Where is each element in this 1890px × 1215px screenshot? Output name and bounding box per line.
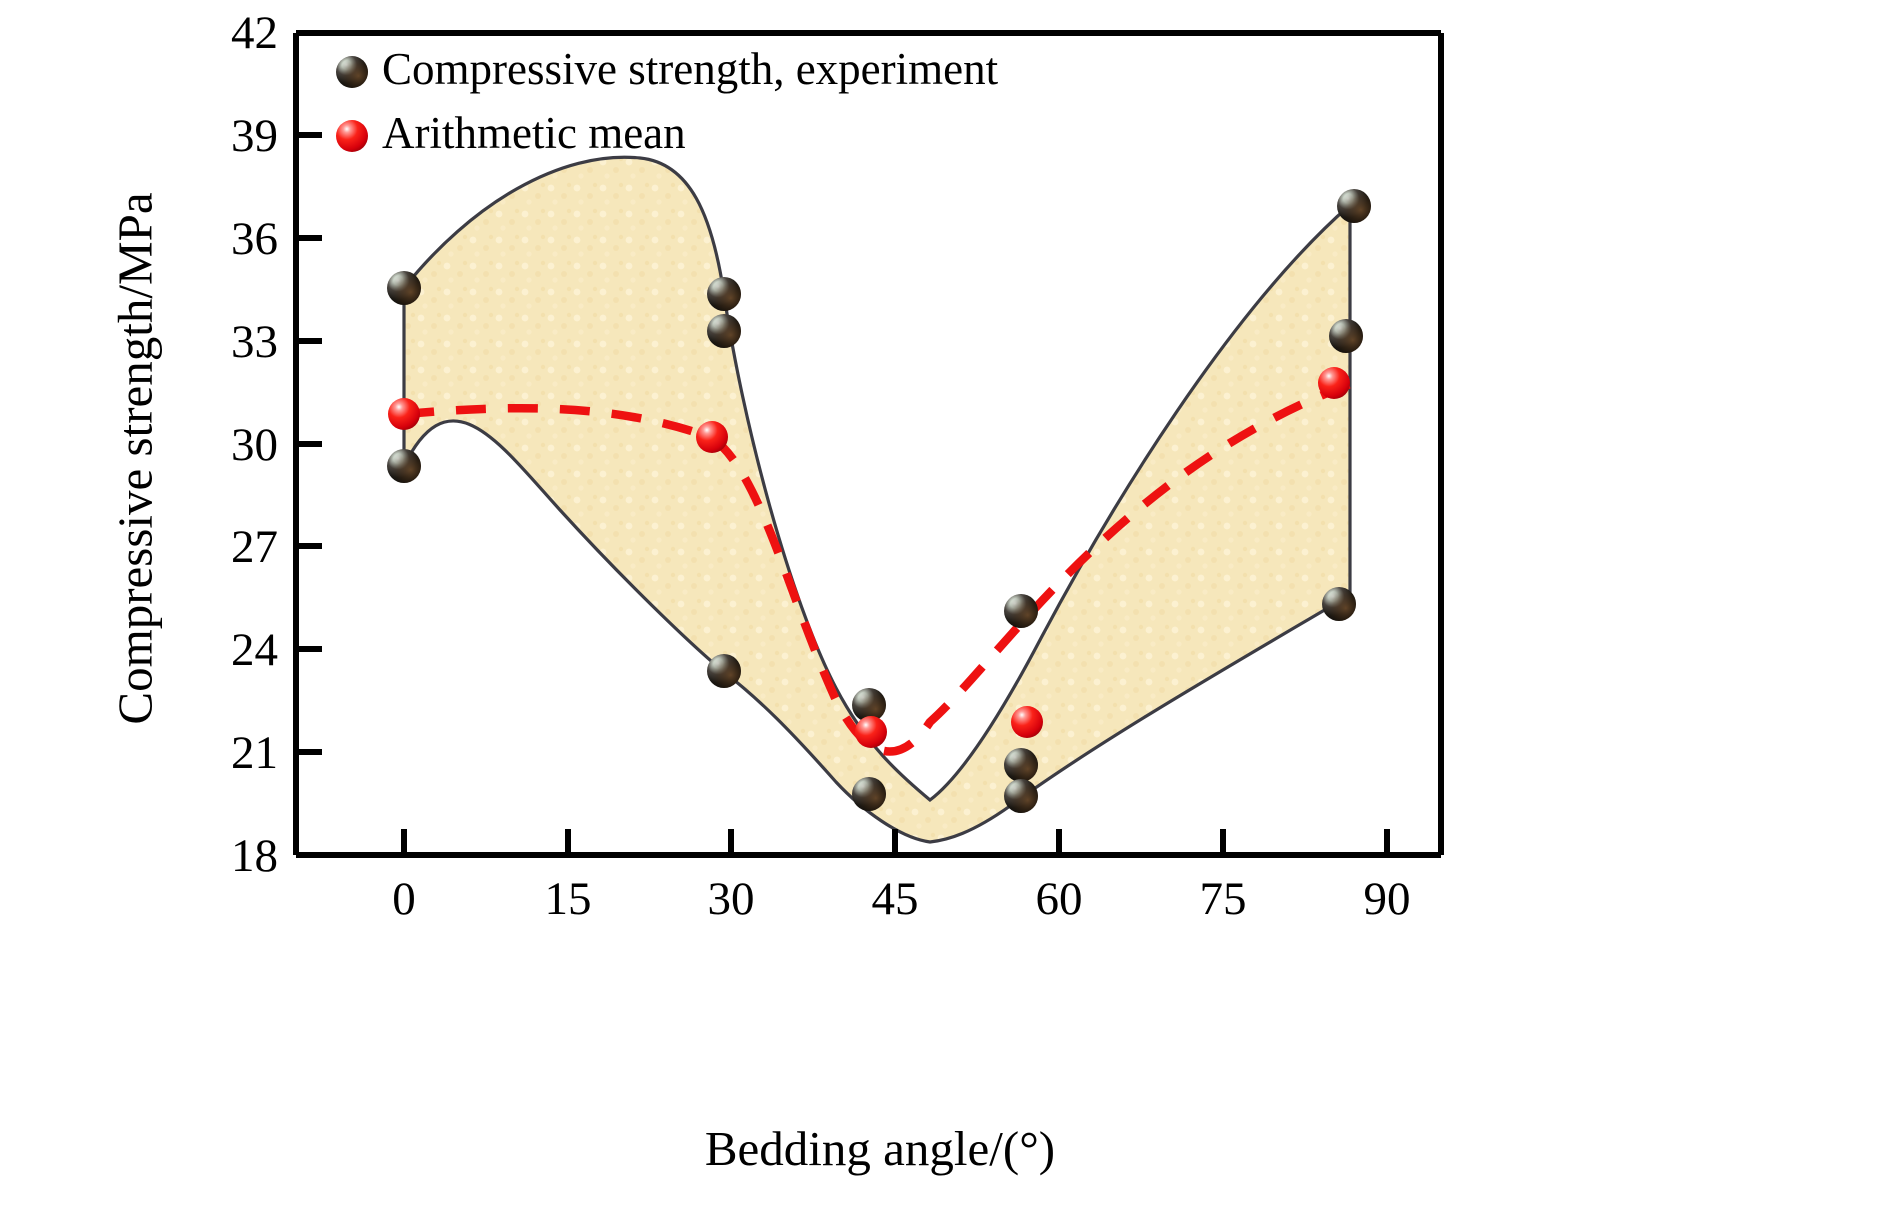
data-point-marker xyxy=(707,277,741,311)
y-tick-label-21: 21 xyxy=(188,726,278,780)
y-tick-label-36: 36 xyxy=(188,212,278,266)
data-point-marker xyxy=(387,271,421,305)
y-tick-label-33: 33 xyxy=(188,315,278,369)
y-tick-label-30: 30 xyxy=(188,418,278,472)
x-tick-label-75: 75 xyxy=(1168,872,1278,926)
data-point-marker xyxy=(387,449,421,483)
data-point-marker xyxy=(1337,189,1371,223)
x-tick-label-90: 90 xyxy=(1332,872,1442,926)
x-axis-title: Bedding angle/(°) xyxy=(500,1120,1260,1177)
legend-markers xyxy=(336,56,368,152)
x-tick-label-15: 15 xyxy=(513,872,623,926)
y-tick-label-18: 18 xyxy=(188,829,278,883)
x-tick-label-45: 45 xyxy=(840,872,950,926)
y-tick-label-39: 39 xyxy=(188,109,278,163)
data-point-marker xyxy=(1004,594,1038,628)
x-tick-label-0: 0 xyxy=(349,872,459,926)
legend-label-arithmetic-mean: Arithmetic mean xyxy=(382,107,686,159)
data-point-marker xyxy=(707,654,741,688)
data-point-marker xyxy=(707,314,741,348)
legend-label-experiment: Compressive strength, experiment xyxy=(382,43,998,95)
chart-figure: Compressive strength, experiment Arithme… xyxy=(0,0,1890,1215)
x-tick-label-30: 30 xyxy=(676,872,786,926)
y-tick-label-42: 42 xyxy=(188,6,278,60)
mean-point-marker xyxy=(1318,367,1350,399)
mean-point-marker xyxy=(1011,706,1043,738)
chart-canvas xyxy=(0,0,1890,1215)
x-tick-label-60: 60 xyxy=(1004,872,1114,926)
y-tick-label-27: 27 xyxy=(188,520,278,574)
mean-point-marker xyxy=(855,716,887,748)
mean-point-marker xyxy=(696,421,728,453)
y-tick-label-24: 24 xyxy=(188,623,278,677)
legend-marker-arithmetic-mean xyxy=(336,120,368,152)
data-point-marker xyxy=(1004,748,1038,782)
data-point-marker xyxy=(1329,319,1363,353)
y-axis-ticks xyxy=(296,33,322,855)
data-point-marker xyxy=(852,777,886,811)
data-point-marker xyxy=(1322,587,1356,621)
mean-point-marker xyxy=(388,398,420,430)
legend-marker-experiment xyxy=(336,56,368,88)
data-point-marker xyxy=(1004,779,1038,813)
y-axis-title: Compressive strength/MPa xyxy=(107,139,164,779)
x-axis-ticks xyxy=(404,829,1387,855)
